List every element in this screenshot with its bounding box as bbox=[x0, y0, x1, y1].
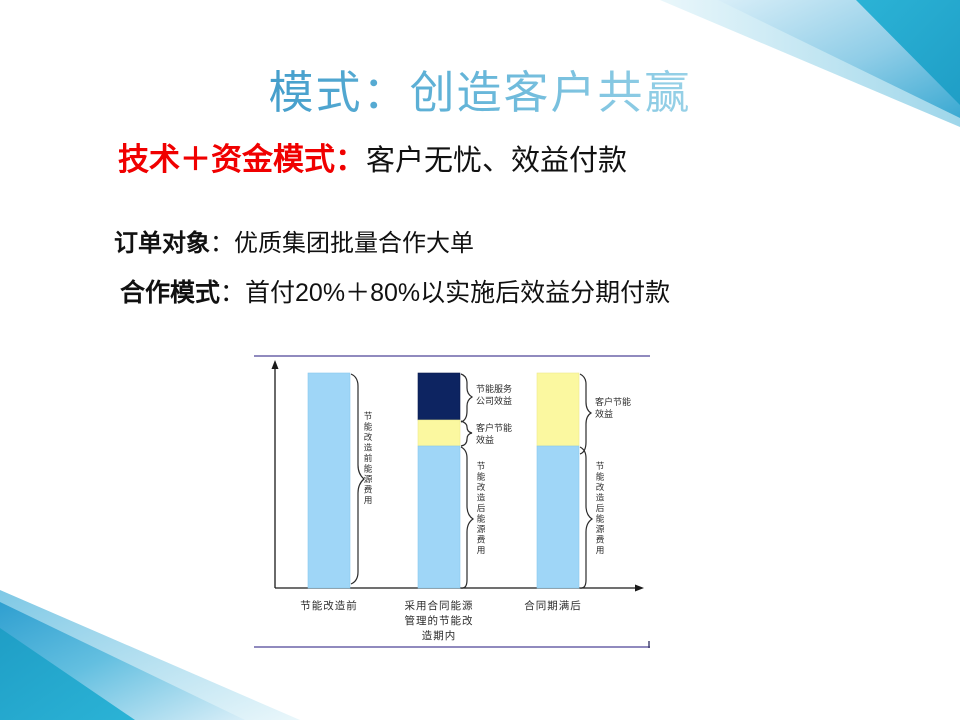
bullet-order-target: 订单对象：优质集团批量合作大单 bbox=[114, 223, 474, 258]
category-label-2: 采用合同能源管理的节能改造期内 bbox=[405, 599, 474, 642]
bar3-customer-benefit bbox=[537, 373, 579, 446]
bar2-customer-brace bbox=[461, 421, 472, 446]
bar2-base-brace bbox=[461, 447, 473, 588]
category-label-3: 合同期满后 bbox=[524, 599, 582, 612]
slide-canvas: 模式：创造客户共赢 技术＋资金模式：客户无忧、效益付款 订单对象：优质集团批量合… bbox=[0, 0, 960, 720]
esco-benefit-chart: 节能改造前能源费用 节能服务公司效益 客户节能效益 节能改造后能源费用 bbox=[250, 345, 670, 655]
bullet-cooperation-mode: 合作模式：首付20%＋80%以实施后效益分期付款 bbox=[120, 273, 670, 309]
slide-title: 模式：创造客户共赢 bbox=[0, 56, 960, 121]
bullet-2-separator: ： bbox=[220, 279, 245, 307]
bar1-energy-cost bbox=[308, 373, 350, 588]
bar1-brace bbox=[351, 374, 364, 584]
bar2-customer-benefit bbox=[418, 420, 460, 446]
bar3-vertical-label: 节能改造后能源费用 bbox=[596, 461, 605, 556]
bar2-esco-brace bbox=[461, 374, 472, 422]
bullet-2-label: 合作模式 bbox=[120, 279, 220, 307]
headline-red-text: 技术＋资金模式： bbox=[118, 142, 366, 177]
bar3-base-brace bbox=[580, 447, 592, 588]
bullet-1-value: 优质集团批量合作大单 bbox=[234, 230, 474, 257]
headline: 技术＋资金模式：客户无忧、效益付款 bbox=[118, 143, 627, 178]
category-label-1: 节能改造前 bbox=[300, 599, 358, 612]
bar1-vertical-label: 节能改造前能源费用 bbox=[364, 411, 373, 506]
bar2-esco-benefit bbox=[418, 373, 460, 420]
bar2-vertical-label: 节能改造后能源费用 bbox=[477, 461, 486, 556]
y-axis-arrow bbox=[272, 360, 279, 369]
bar3-energy-cost bbox=[537, 446, 579, 588]
bar2-energy-cost bbox=[418, 446, 460, 588]
bar2-esco-label: 节能服务公司效益 bbox=[476, 383, 512, 407]
bullet-2-value: 首付20%＋80%以实施后效益分期付款 bbox=[245, 279, 670, 307]
bullet-1-label: 订单对象 bbox=[114, 230, 210, 257]
bar3-customer-brace bbox=[580, 374, 591, 454]
x-axis-arrow bbox=[635, 585, 644, 592]
bar2-customer-label: 客户节能效益 bbox=[476, 422, 512, 446]
bullet-1-separator: ： bbox=[210, 230, 234, 257]
bar3-customer-label: 客户节能效益 bbox=[595, 396, 631, 420]
headline-black-text: 客户无忧、效益付款 bbox=[366, 145, 627, 177]
